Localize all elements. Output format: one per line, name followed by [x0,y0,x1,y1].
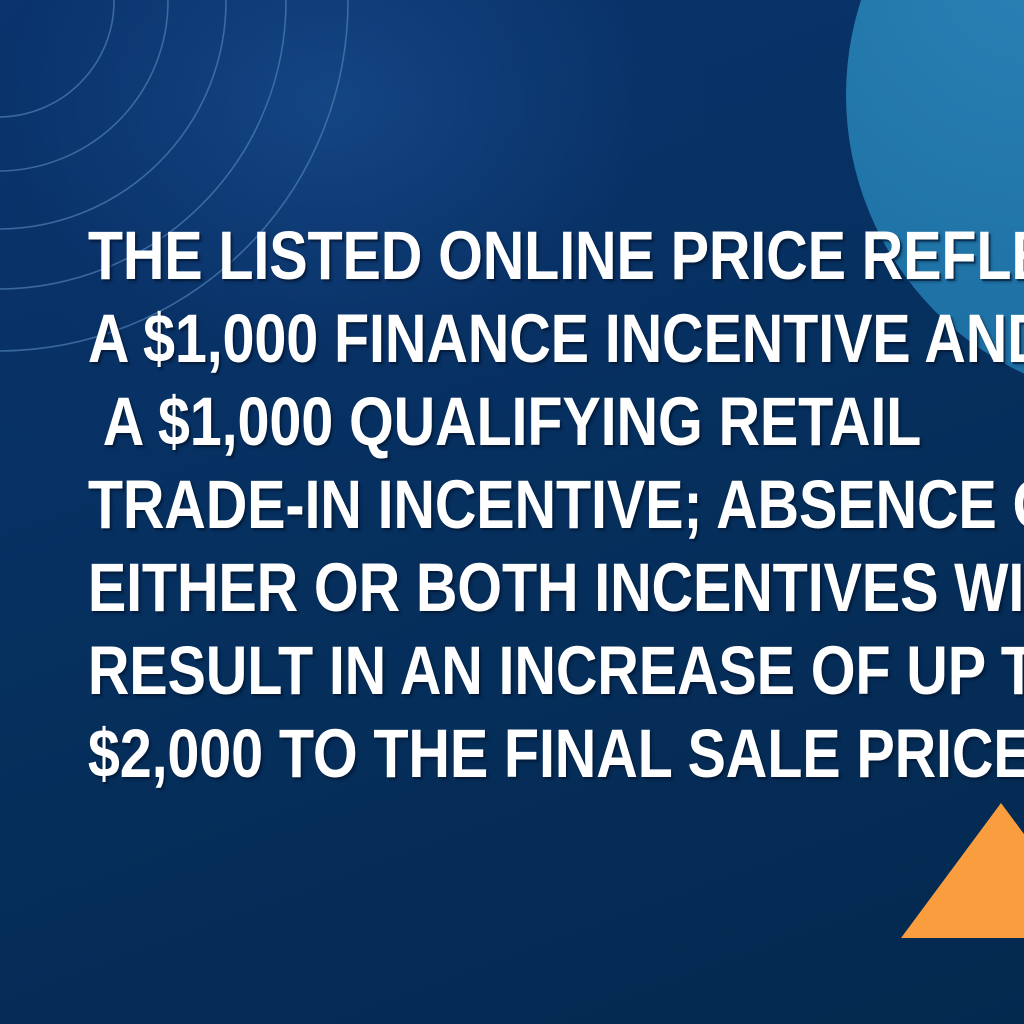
promotional-graphic-canvas: THE LISTED ONLINE PRICE REFLECTS A $1,00… [0,0,1024,1024]
disclaimer-line: RESULT IN AN INCREASE OF UP TO [88,629,936,712]
disclaimer-line: THE LISTED ONLINE PRICE REFLECTS [88,214,936,297]
disclaimer-line: A $1,000 FINANCE INCENTIVE AND [88,297,936,380]
disclaimer-line: TRADE-IN INCENTIVE; ABSENCE OF [88,463,936,546]
disclaimer-line: $2,000 TO THE FINAL SALE PRICE. [88,712,936,795]
disclaimer-text-block: THE LISTED ONLINE PRICE REFLECTS A $1,00… [0,214,1024,795]
disclaimer-line: A $1,000 QUALIFYING RETAIL [88,380,936,463]
disclaimer-line: EITHER OR BOTH INCENTIVES WILL [88,546,936,629]
